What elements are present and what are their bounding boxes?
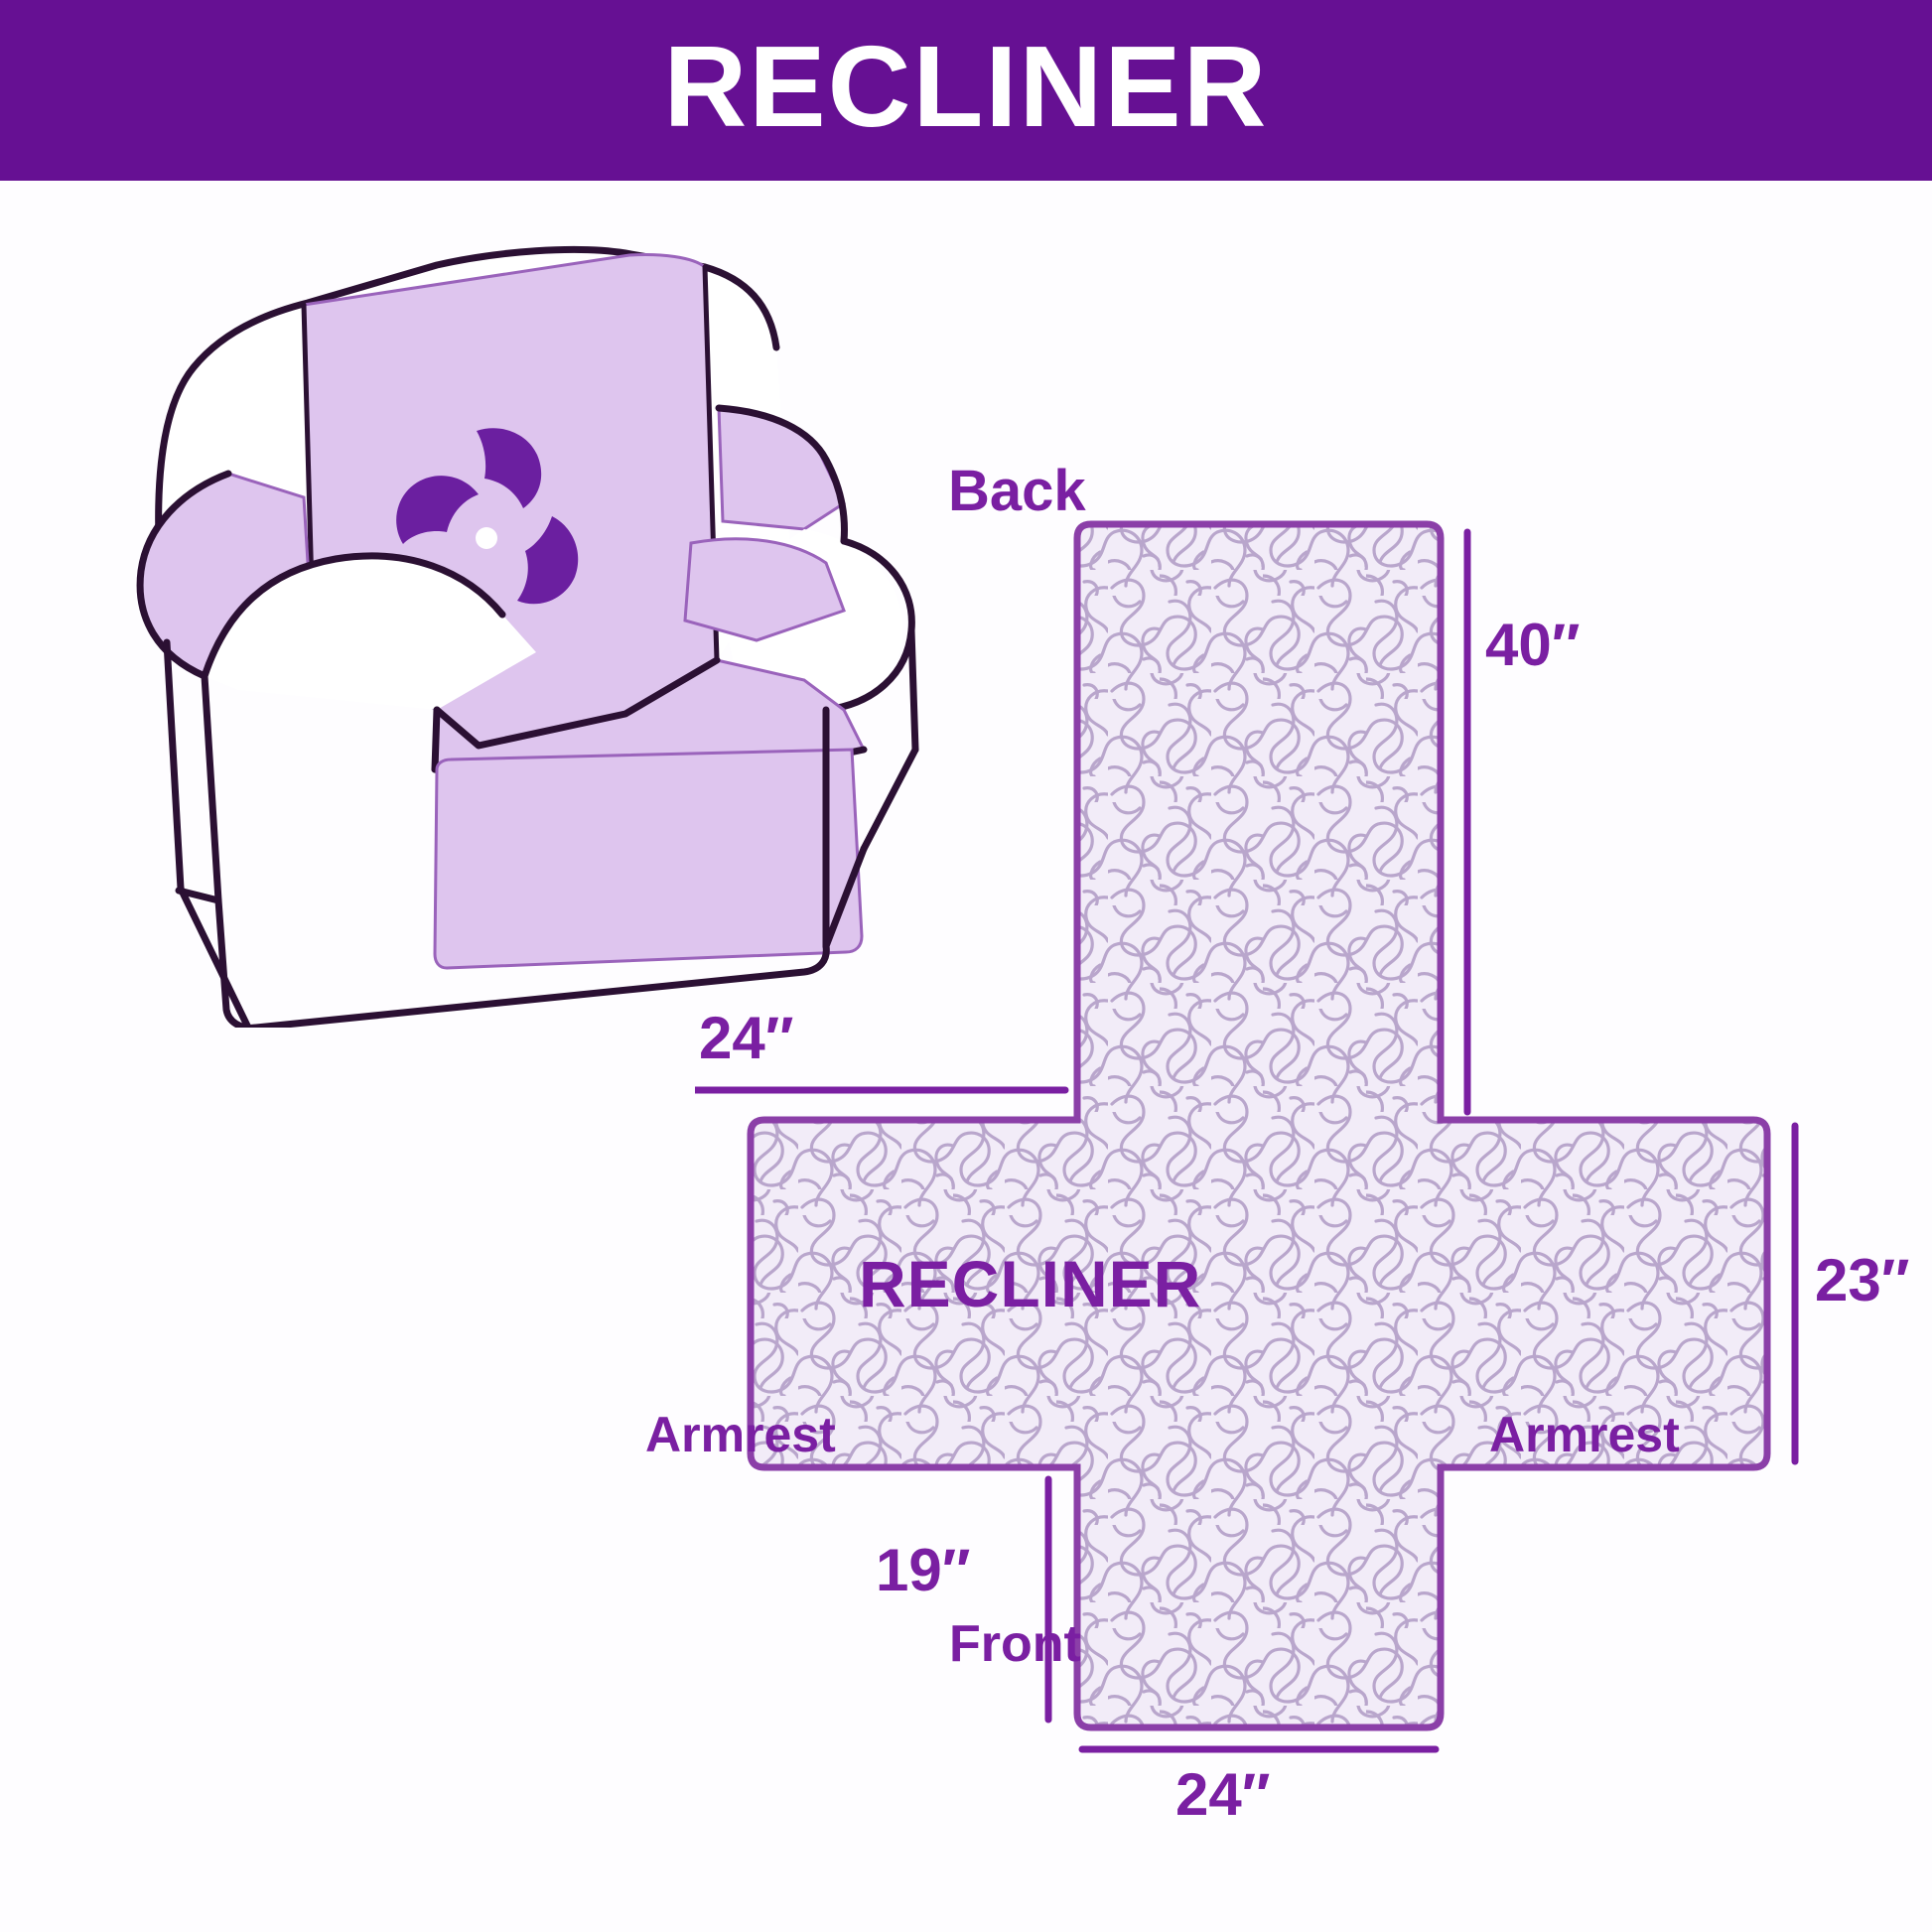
pattern-label-armrest-left: Armrest xyxy=(645,1410,836,1459)
header-banner: RECLINER xyxy=(0,0,1932,181)
dimension-front-width: 24″ xyxy=(1175,1765,1270,1825)
dimension-front-height: 19″ xyxy=(876,1541,970,1600)
product-dimension-infographic: RECLINER .ol{fill:none;stroke:#2b1033;st… xyxy=(0,0,1932,1932)
page-title: RECLINER xyxy=(664,29,1269,144)
pattern-label-front: Front xyxy=(949,1618,1081,1670)
dimension-armrest-span-height: 23″ xyxy=(1815,1251,1909,1311)
pattern-label-armrest-right: Armrest xyxy=(1489,1410,1680,1459)
dimension-back-height: 40″ xyxy=(1485,616,1580,675)
pattern-label-recliner: RECLINER xyxy=(859,1251,1201,1316)
dimension-back-width-top: 24″ xyxy=(699,1009,793,1068)
pattern-label-back: Back xyxy=(948,463,1086,520)
cover-flat-pattern-diagram: Back RECLINER Armrest Armrest Front 40″ … xyxy=(695,467,1932,1857)
